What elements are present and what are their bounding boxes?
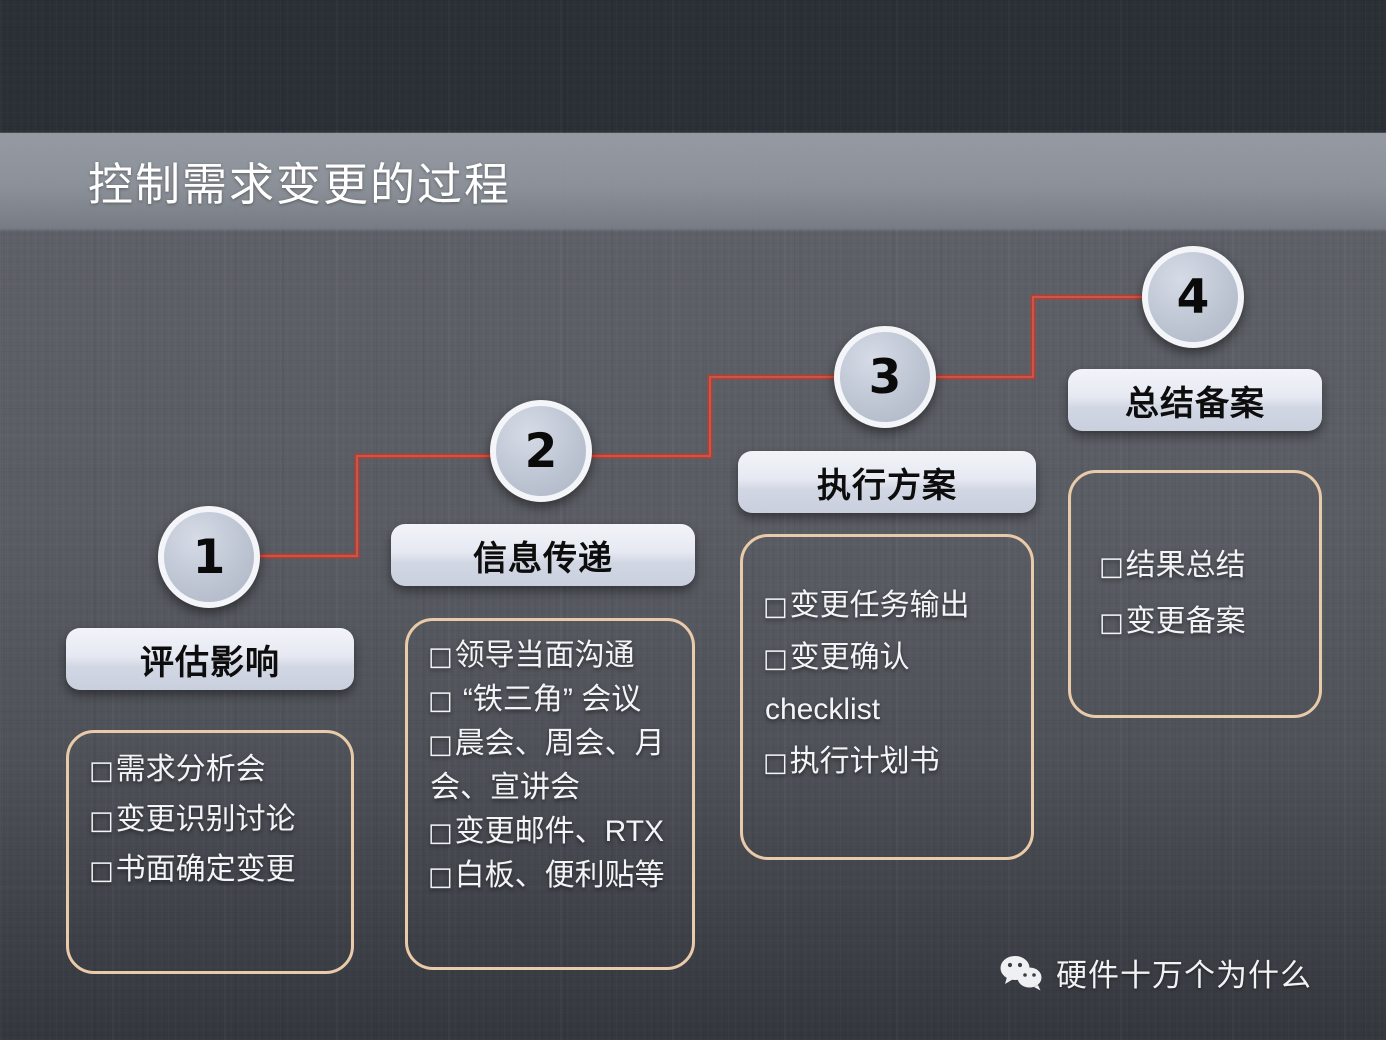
bullet-marker-icon: □	[763, 592, 788, 622]
step-label-text: 执行方案	[817, 458, 957, 507]
bullet-item: □变更确认	[763, 643, 1011, 673]
step-bullets-box-2: □领导当面沟通 □ “铁三角” 会议 □晨会、周会、月 会、宣讲会 □变更邮件、…	[405, 618, 695, 970]
bullet-text: 变更确认	[790, 641, 910, 674]
bullet-item: □书面确定变更	[89, 855, 331, 885]
bullet-text: 白板、便利贴等	[455, 859, 665, 892]
bullet-marker-icon: □	[428, 730, 453, 760]
step-number-text: 3	[869, 350, 902, 405]
bullet-text: 晨会、周会、月	[455, 727, 665, 760]
watermark-text: 硬件十万个为什么	[1056, 950, 1312, 995]
step-number-badge-3[interactable]: 3	[834, 326, 936, 428]
watermark: 硬件十万个为什么	[1000, 950, 1312, 995]
bullet-text: 变更任务输出	[790, 589, 970, 622]
step-number-text: 1	[193, 530, 226, 585]
bullet-text: checklist	[765, 693, 880, 726]
step-number-text: 2	[525, 424, 558, 479]
bullet-marker-icon: □	[1099, 552, 1124, 582]
bullet-text: “铁三角” 会议	[455, 683, 642, 716]
bullet-text: 执行计划书	[790, 745, 940, 778]
bullet-text: 领导当面沟通	[455, 639, 635, 672]
bullet-marker-icon: □	[89, 856, 114, 886]
bullet-marker-icon: □	[428, 642, 453, 672]
bullet-marker-icon: □	[763, 748, 788, 778]
bullet-item: □变更邮件、RTX	[428, 817, 672, 847]
bullet-marker-icon: □	[89, 756, 114, 786]
step-label-2[interactable]: 信息传递	[391, 524, 695, 586]
wechat-icon	[1000, 955, 1044, 991]
bullet-item: □领导当面沟通	[428, 641, 672, 671]
bullet-text: 变更邮件、RTX	[455, 815, 664, 848]
bullet-text: 书面确定变更	[116, 853, 296, 886]
bullet-item: □ “铁三角” 会议	[428, 685, 672, 715]
bullet-text: 结果总结	[1126, 549, 1246, 582]
bullet-text: 变更识别讨论	[116, 803, 296, 836]
bullet-item: □晨会、周会、月	[428, 729, 672, 759]
bullet-marker-icon: □	[428, 862, 453, 892]
step-bullets-box-4: □结果总结 □变更备案	[1068, 470, 1322, 718]
bullet-item: □执行计划书	[763, 747, 1011, 777]
bullet-item: □变更备案	[1099, 607, 1299, 637]
step-bullets-box-1: □需求分析会 □变更识别讨论 □书面确定变更	[66, 730, 354, 974]
bullet-marker-icon: □	[428, 818, 453, 848]
bullet-item: □结果总结	[1099, 551, 1299, 581]
bullet-text: 需求分析会	[116, 753, 266, 786]
step-label-text: 总结备案	[1125, 376, 1265, 425]
bullet-marker-icon: □	[1099, 608, 1124, 638]
bullet-marker-icon: □	[89, 806, 114, 836]
bullet-text: 会、宣讲会	[430, 771, 580, 804]
slide-canvas: 控制需求变更的过程 1 评估影响 □需求分析会 □变更识别讨论 □书面确定变更	[0, 0, 1386, 1040]
step-label-1[interactable]: 评估影响	[66, 628, 354, 690]
bullet-item-continuation: 会、宣讲会	[428, 773, 672, 803]
step-number-badge-4[interactable]: 4	[1142, 246, 1244, 348]
bullet-marker-icon: □	[428, 686, 453, 716]
bullet-item: □需求分析会	[89, 755, 331, 785]
bullet-item-continuation: checklist	[763, 695, 1011, 725]
step-bullets-box-3: □变更任务输出 □变更确认 checklist □执行计划书	[740, 534, 1034, 860]
bullet-item: □变更识别讨论	[89, 805, 331, 835]
step-label-3[interactable]: 执行方案	[738, 451, 1036, 513]
bullet-item: □变更任务输出	[763, 591, 1011, 621]
bullet-text: 变更备案	[1126, 605, 1246, 638]
step-label-text: 信息传递	[473, 531, 613, 580]
bullet-marker-icon: □	[763, 644, 788, 674]
step-label-4[interactable]: 总结备案	[1068, 369, 1322, 431]
bullet-item: □白板、便利贴等	[428, 861, 672, 891]
step-label-text: 评估影响	[140, 635, 280, 684]
step-number-badge-1[interactable]: 1	[158, 506, 260, 608]
step-number-text: 4	[1177, 270, 1210, 325]
step-number-badge-2[interactable]: 2	[490, 400, 592, 502]
